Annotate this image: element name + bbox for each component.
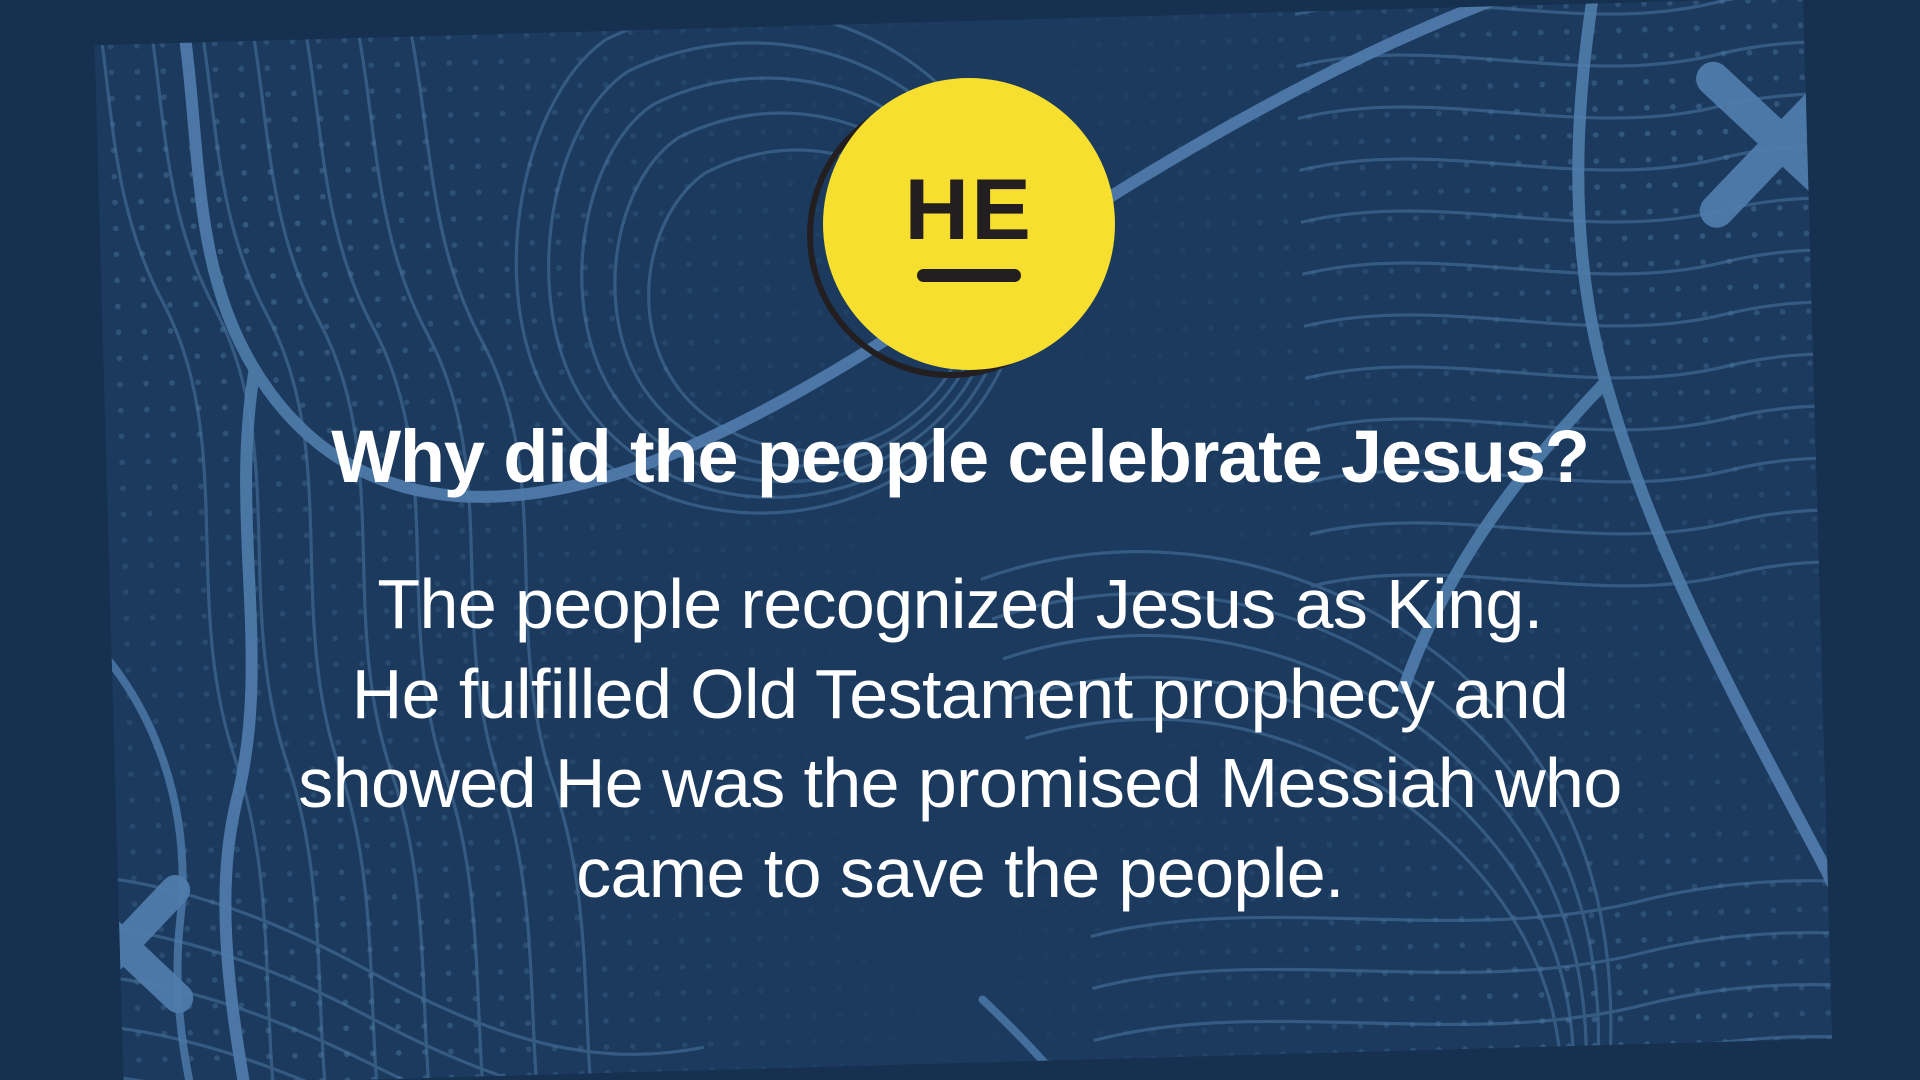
body-copy: The people recognized Jesus as King. He … — [70, 560, 1850, 918]
logo-underline-bar — [917, 269, 1021, 282]
body-line-1: The people recognized Jesus as King. — [70, 560, 1850, 650]
body-line-3: showed He was the promised Messiah who — [70, 739, 1850, 829]
body-line-4: came to save the people. — [70, 829, 1850, 919]
slide-content: HE Why did the people celebrate Jesus? T… — [0, 0, 1920, 1080]
he-circle-logo-icon: HE — [805, 78, 1115, 388]
logo-label: HE — [905, 167, 1033, 253]
slide-canvas: HE Why did the people celebrate Jesus? T… — [0, 0, 1920, 1080]
body-line-2: He fulfilled Old Testament prophecy and — [70, 650, 1850, 740]
logo-disc: HE — [823, 78, 1115, 370]
page-title: Why did the people celebrate Jesus? — [331, 418, 1588, 496]
